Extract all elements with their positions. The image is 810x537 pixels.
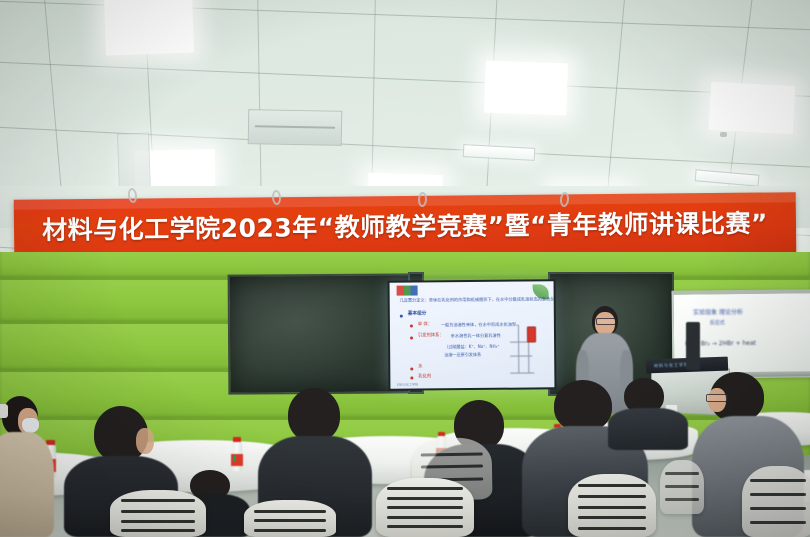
slide-apparatus-flask xyxy=(527,327,536,343)
slide-bullet-label-1: 引发剂体系： xyxy=(418,335,444,340)
chair[interactable] xyxy=(568,474,656,537)
ceiling-light xyxy=(104,0,194,56)
banner-text: 材料与化工学院2023年“教师教学竞赛”暨“青年教师讲课比赛” xyxy=(14,204,796,248)
audience-head xyxy=(554,380,612,432)
presenter-glasses-icon xyxy=(596,318,616,325)
chair[interactable] xyxy=(376,478,474,537)
ceiling-light xyxy=(484,61,568,116)
hair-clip-icon xyxy=(0,404,8,418)
slide-bullet-label-4: 水 xyxy=(418,366,422,371)
slide-content: 几且置分定义：单体在乳化剂的作用和机械搅拌下，在水中分散成乳液状态的聚合反应。 … xyxy=(390,281,555,388)
slide-bullet-text-1: 亲水溶性乳一体分复乳溶性 xyxy=(451,334,501,339)
slide-apparatus-diagram xyxy=(505,325,548,374)
blackboard xyxy=(228,273,413,394)
slide-bullet-text-3: 油溶一还原引发体系 xyxy=(444,353,481,358)
audience-glasses-icon xyxy=(706,394,728,402)
audience-member-6 xyxy=(610,378,684,448)
audience-face xyxy=(136,428,154,454)
slide-bullet-label-0: 单 体： xyxy=(418,323,432,328)
slide-bullet-icon xyxy=(410,377,413,380)
audience-woman-masked xyxy=(0,396,52,537)
chair[interactable] xyxy=(244,500,336,537)
slide-bullet-label-5: 乳化剂 xyxy=(418,375,431,380)
air-vent xyxy=(248,109,343,146)
slide-bullet-icon xyxy=(410,325,413,328)
podium-label: 材料与化工学院 xyxy=(654,362,689,369)
slide-bullet-icon xyxy=(400,314,403,317)
chair[interactable] xyxy=(660,460,704,514)
water-bottle xyxy=(231,437,243,471)
slide-title-line: 几且置分定义：单体在乳化剂的作用和机械搅拌下，在水中分散成乳液状态的聚合反应。 xyxy=(400,297,555,303)
slide-footer: 材料与化工学院 xyxy=(397,382,418,386)
chair[interactable] xyxy=(110,490,206,537)
audience-head xyxy=(288,388,340,442)
side-speaker xyxy=(686,322,700,370)
slide-bullet-icon xyxy=(410,337,413,340)
projection-screen: 几且置分定义：单体在乳化剂的作用和机械搅拌下，在水中分散成乳液状态的聚合反应。 … xyxy=(388,279,557,390)
audience-body xyxy=(608,408,688,450)
whiteboard-ink-0: 实验现象 理论分析 xyxy=(693,307,743,317)
ceiling-light xyxy=(709,82,795,134)
slide-logo-icon xyxy=(396,286,417,296)
sprinkler-icon xyxy=(720,132,727,137)
whiteboard-ink-1: 反应式 xyxy=(710,319,725,326)
chair[interactable] xyxy=(742,466,810,537)
slide-bullet-icon xyxy=(410,367,413,370)
classroom-photo: 材料与化工学院2023年“教师教学竞赛”暨“青年教师讲课比赛” 几且置分定义：单… xyxy=(0,0,810,537)
face-mask-icon xyxy=(22,418,39,433)
slide-section-label: 基本组分 xyxy=(408,313,426,318)
slide-bullet-text-2: （过硫酸盐：K⁺、Na⁺、NH₄⁺ xyxy=(444,344,499,349)
audience-body xyxy=(0,432,54,537)
